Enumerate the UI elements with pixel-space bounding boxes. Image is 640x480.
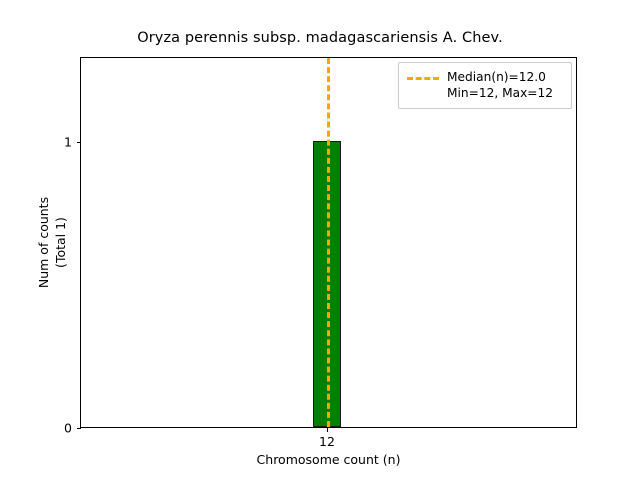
- plot-axes: [80, 57, 577, 428]
- y-axis-label-line1: Num of counts: [35, 197, 52, 288]
- y-axis-label: Num of counts (Total 1): [30, 57, 74, 428]
- legend-entry-minmax: Min=12, Max=12: [447, 85, 553, 101]
- xtick-label-12: 12: [319, 434, 335, 449]
- chart-figure: Oryza perennis subsp. madagascariensis A…: [0, 0, 640, 480]
- ytick-mark-0: [77, 428, 81, 429]
- legend-line-sample: [407, 70, 439, 85]
- chart-title: Oryza perennis subsp. madagascariensis A…: [0, 30, 640, 46]
- y-axis-label-line2: (Total 1): [52, 217, 69, 268]
- legend-text: Median(n)=12.0 Min=12, Max=12: [447, 69, 553, 101]
- legend-dashed-line: [407, 77, 439, 80]
- chart-legend: Median(n)=12.0 Min=12, Max=12: [398, 62, 572, 109]
- x-axis-label: Chromosome count (n): [80, 452, 577, 467]
- xtick-mark-12: [327, 428, 328, 432]
- plot-area: [81, 58, 576, 427]
- legend-entry-median: Median(n)=12.0: [447, 69, 553, 85]
- median-line: [327, 58, 330, 427]
